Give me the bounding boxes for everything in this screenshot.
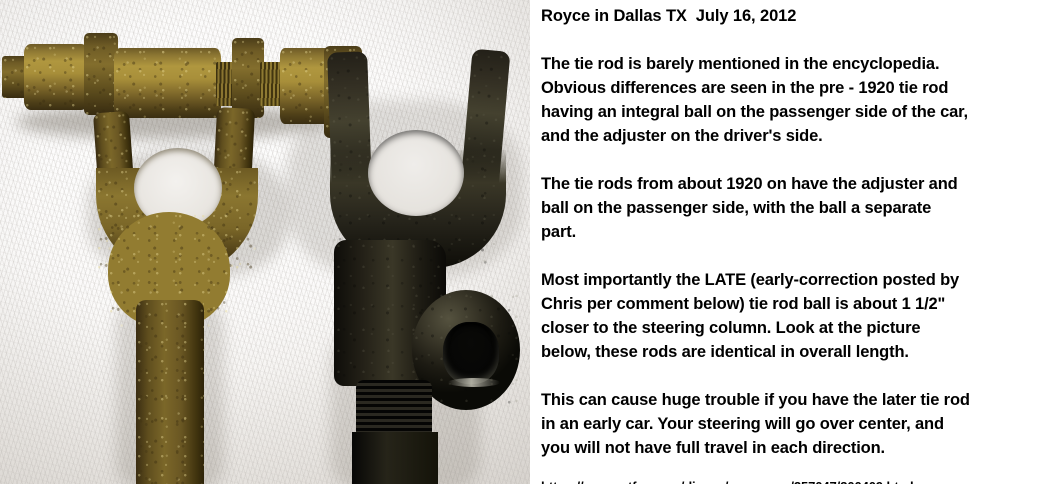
caption-line: and the adjuster on the driver's side. [541,124,1040,148]
caption-line: part. [541,220,1040,244]
caption-paragraph-4: This can cause huge trouble if you have … [541,388,1040,460]
caption-title: Royce in Dallas TX July 16, 2012 [541,0,1040,28]
late-rod-shaft [352,432,438,484]
caption-text-panel: Royce in Dallas TX July 16, 2012 The tie… [530,0,1044,484]
caption-line: Most importantly the LATE (early-correct… [541,268,1040,292]
early-rod-lock-ring [84,33,118,115]
caption-line: closer to the steering column. Look at t… [541,316,1040,340]
caption-line: ball on the passenger side, with the bal… [541,196,1040,220]
early-rod-adjuster-sleeve [114,48,221,118]
spacer [541,148,1040,172]
early-rod-collar-a [24,44,88,110]
caption-line: you will not have full travel in each di… [541,436,1040,460]
late-rod-ball-joint-highlight [448,378,500,387]
caption-paragraph-1: The tie rod is barely mentioned in the e… [541,52,1040,148]
spacer [541,244,1040,268]
late-rod-fork-eye [368,130,464,216]
spacer [541,364,1040,388]
caption-line: in an early car. Your steering will go o… [541,412,1040,436]
source-url[interactable]: https://www.mtfca.com/discus/messages/25… [541,478,1040,484]
early-rod-collar-b [280,48,330,124]
caption-line: The tie rod is barely mentioned in the e… [541,52,1040,76]
page-root: Royce in Dallas TX July 16, 2012 The tie… [0,0,1044,484]
caption-line: The tie rods from about 1920 on have the… [541,172,1040,196]
caption-paragraph-2: The tie rods from about 1920 on have the… [541,172,1040,244]
spacer [541,28,1040,52]
late-rod-ball-joint-bore [443,322,499,384]
caption-line: Chris per comment below) tie rod ball is… [541,292,1040,316]
tie-rod-photograph [0,0,530,484]
caption-paragraph-3: Most importantly the LATE (early-correct… [541,268,1040,364]
caption-line: This can cause huge trouble if you have … [541,388,1040,412]
early-rod-shaft [136,300,204,484]
caption-line: Obvious differences are seen in the pre … [541,76,1040,100]
caption-line: below, these rods are identical in overa… [541,340,1040,364]
caption-line: having an integral ball on the passenger… [541,100,1040,124]
